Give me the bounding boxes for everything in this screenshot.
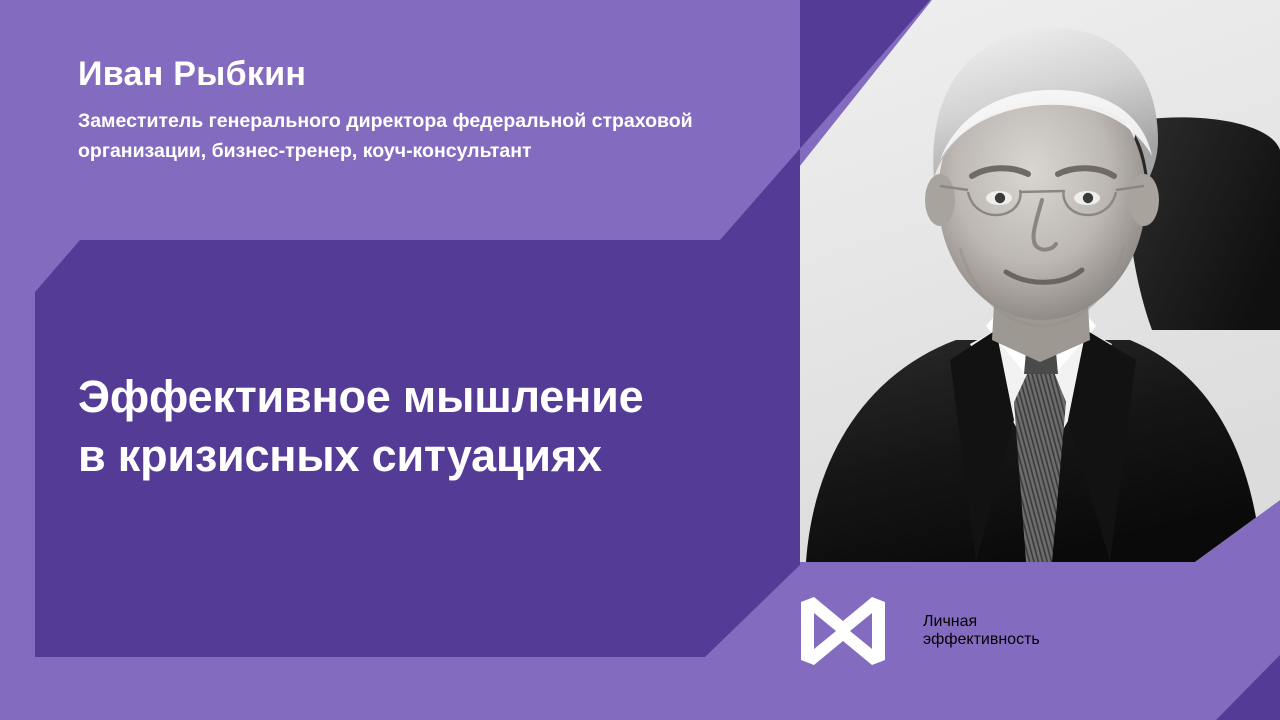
- slide-title: Эффективное мышление в кризисных ситуаци…: [78, 368, 778, 485]
- bowtie-logo-icon: [798, 596, 888, 666]
- speaker-info-block: Иван Рыбкин Заместитель генерального дир…: [78, 56, 748, 167]
- slide-title-line-2: в кризисных ситуациях: [78, 427, 778, 486]
- brand-lockup: Личная эффективность: [798, 596, 1040, 666]
- brand-name-line-2: эффективность: [923, 631, 1040, 649]
- presentation-slide: Иван Рыбкин Заместитель генерального дир…: [0, 0, 1280, 720]
- dark-corner-triangle: [1216, 655, 1280, 720]
- speaker-name: Иван Рыбкин: [78, 56, 748, 93]
- brand-name: Личная эффективность: [923, 613, 1040, 649]
- slide-title-line-1: Эффективное мышление: [78, 368, 778, 427]
- speaker-portrait: [800, 0, 1280, 562]
- brand-name-line-1: Личная: [923, 613, 1040, 631]
- speaker-role: Заместитель генерального директора федер…: [78, 107, 738, 166]
